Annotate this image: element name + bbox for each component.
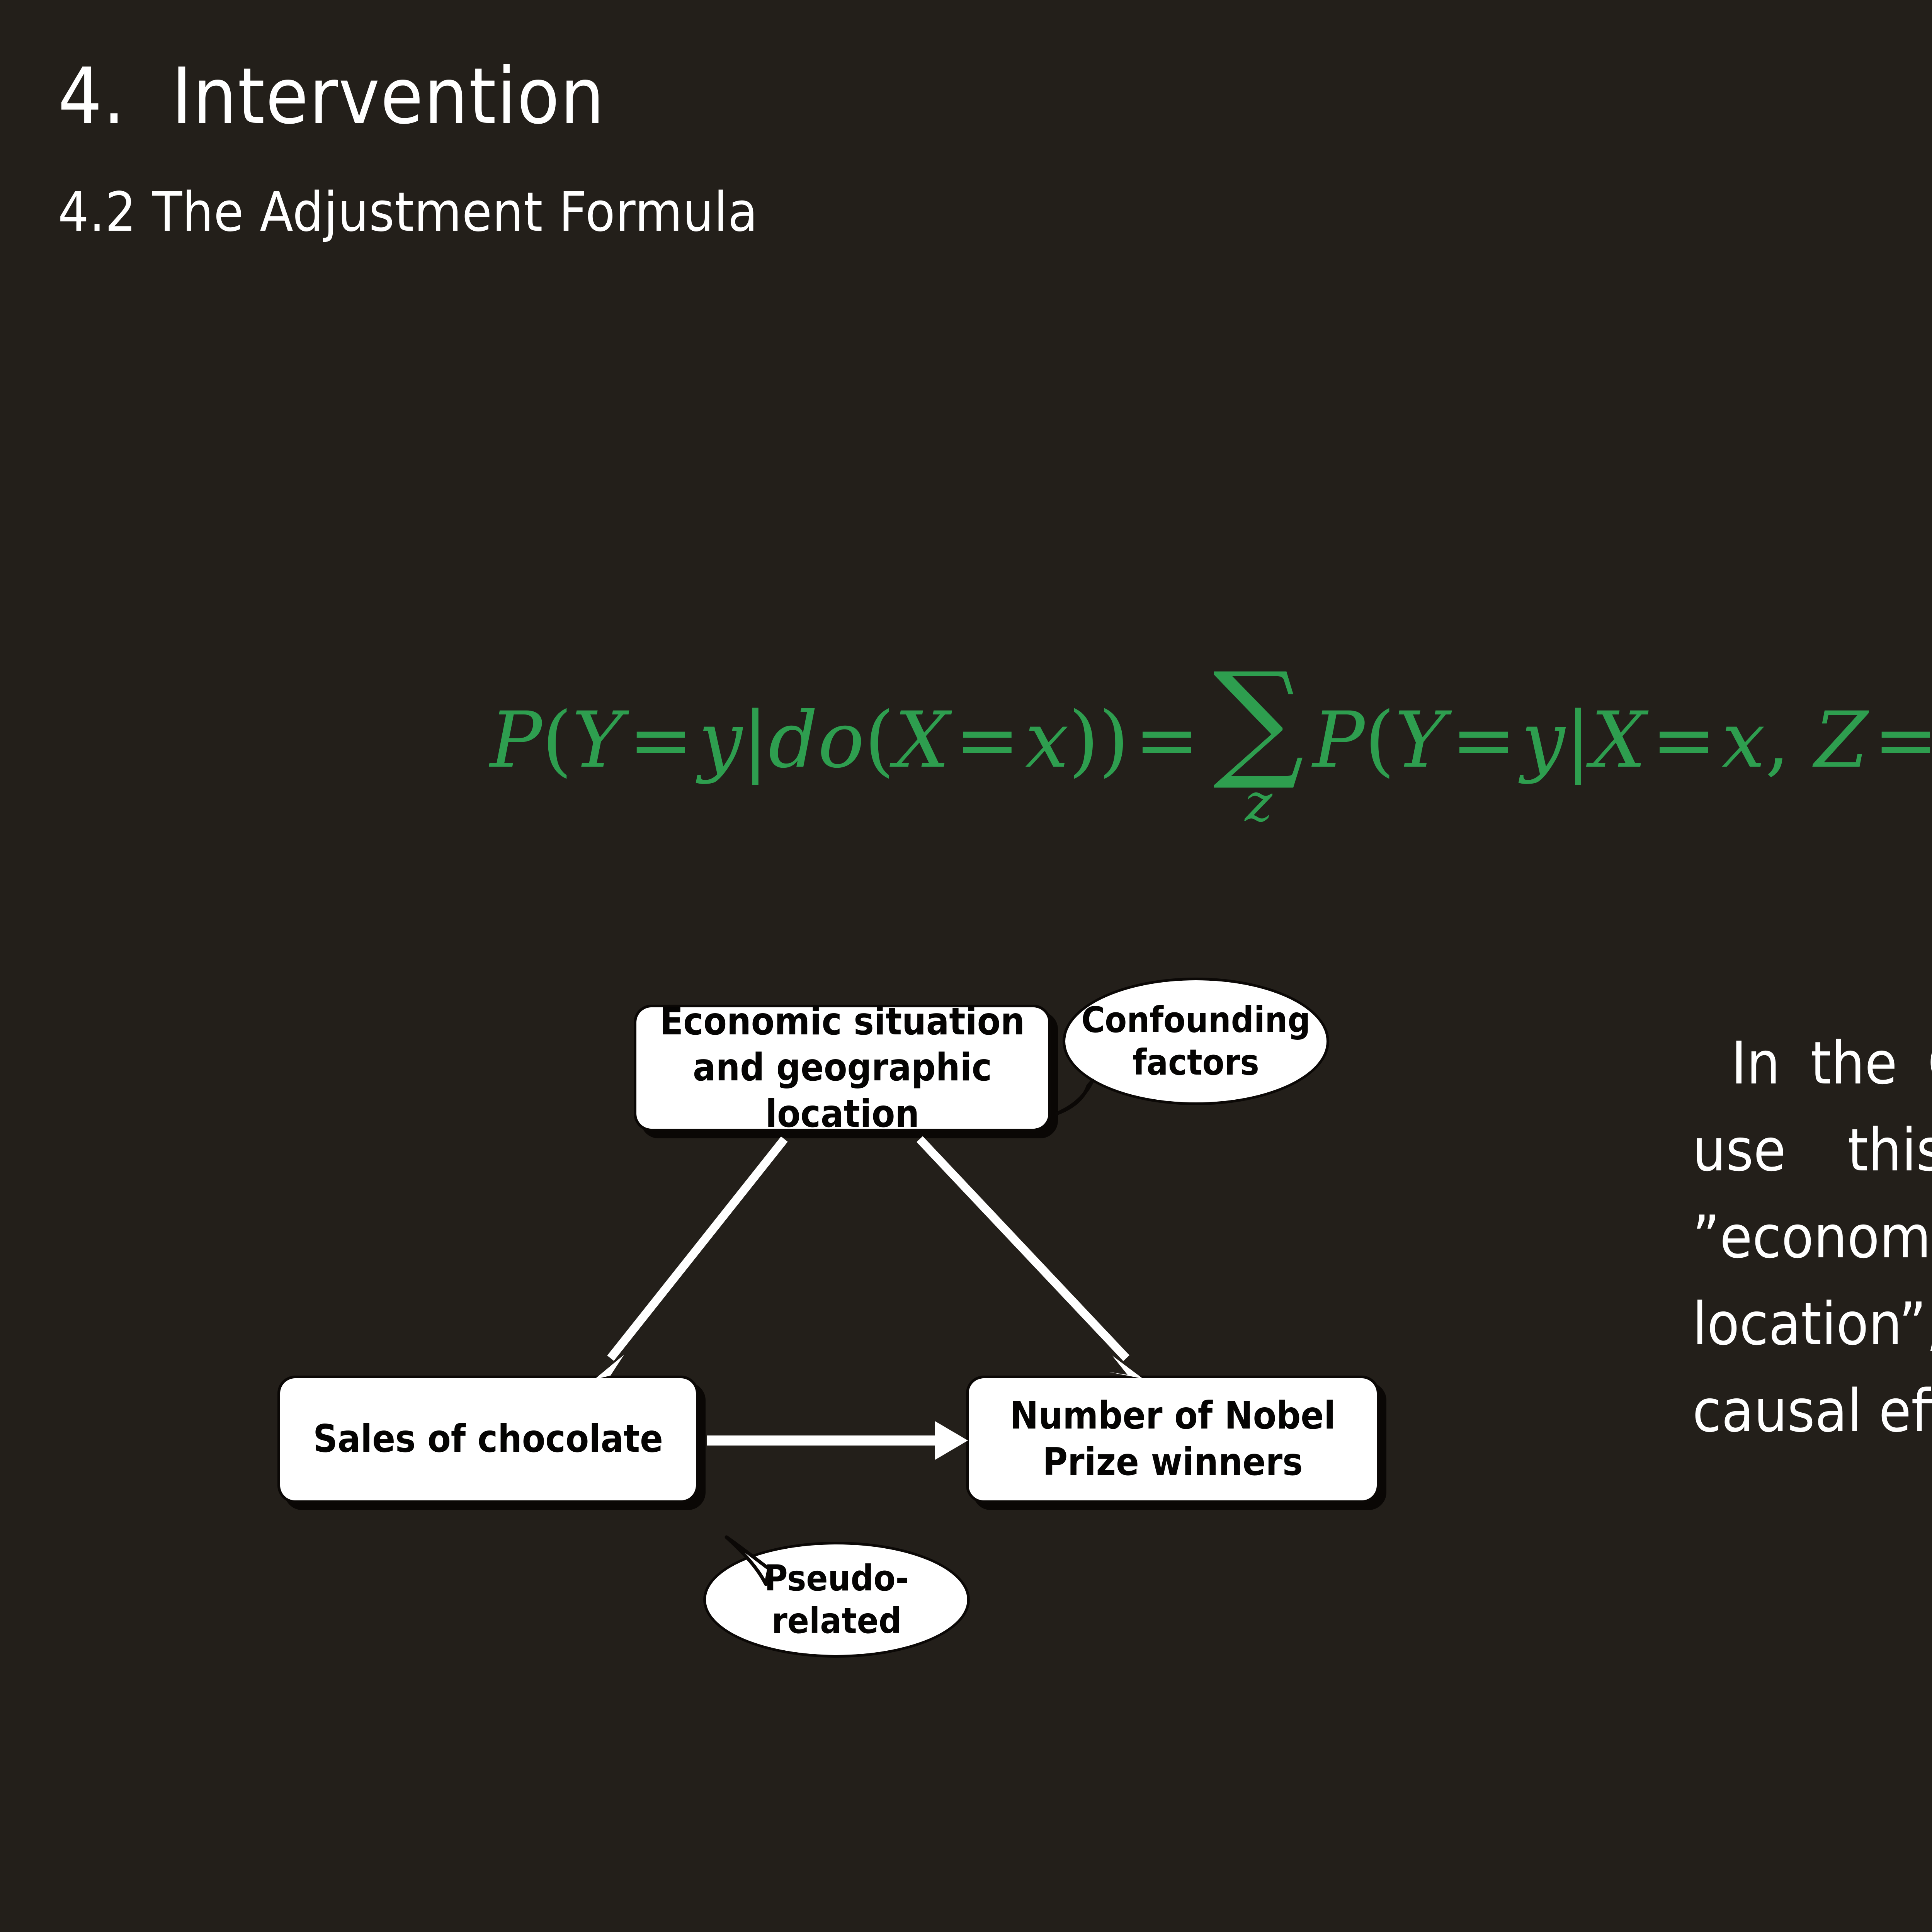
page-subtitle: 4.2 The Adjustment Formula bbox=[58, 185, 758, 240]
formula-rhs1-eq3: = bbox=[1868, 695, 1932, 785]
formula-rhs1-x: X bbox=[1591, 695, 1646, 785]
formula-do-close: ) bbox=[1069, 695, 1099, 785]
pseudo-bubble-tail bbox=[726, 1537, 769, 1584]
formula-rhs1-y: Y bbox=[1395, 695, 1446, 785]
formula-lhs-xlow: x bbox=[1025, 695, 1069, 785]
bubble-tails bbox=[270, 989, 1546, 1704]
formula-rhs1-z: Z bbox=[1815, 695, 1868, 785]
formula-lhs-x: X bbox=[895, 695, 949, 785]
formula-rhs1-bar: | bbox=[1565, 695, 1591, 785]
confounding-bubble-tail bbox=[1057, 1080, 1093, 1114]
formula-rhs1-comma: , bbox=[1765, 695, 1790, 785]
causal-diagram: Economic situation and geographic locati… bbox=[270, 989, 1546, 1704]
formula-lhs-eq1: = bbox=[623, 695, 699, 785]
formula-lhs-bar: | bbox=[742, 695, 768, 785]
formula-lhs-open: ( bbox=[542, 695, 572, 785]
explanation-paragraph: In the Chocolate Paradox, we can use thi… bbox=[1692, 1020, 1932, 1455]
formula-rhs1-eq1: = bbox=[1446, 695, 1522, 785]
formula-lhs-close: ) bbox=[1099, 695, 1129, 785]
formula-rhs1-ylow: y bbox=[1521, 695, 1565, 785]
formula-equals: = bbox=[1129, 695, 1205, 785]
formula-lhs-eq2: = bbox=[949, 695, 1025, 785]
formula-do-operator: do bbox=[769, 695, 864, 785]
formula-rhs1-eq2: = bbox=[1646, 695, 1722, 785]
formula-lhs-ylow: y bbox=[699, 695, 742, 785]
sigma-icon: ∑ bbox=[1213, 665, 1304, 774]
formula-do-open: ( bbox=[864, 695, 895, 785]
formula-rhs1-p: P bbox=[1313, 695, 1365, 785]
formula-rhs1-xlow: x bbox=[1722, 695, 1765, 785]
formula-rhs1-open: ( bbox=[1365, 695, 1395, 785]
summation-operator: ∑z bbox=[1213, 665, 1304, 829]
formula-lhs-p: P bbox=[490, 695, 542, 785]
formula-lhs-y: Y bbox=[572, 695, 623, 785]
page-title: 4. Intervention bbox=[58, 58, 605, 135]
adjustment-formula: P(Y=y|do(X=x))=∑zP(Y=y|X=x, Z=z)P(Z=z) bbox=[0, 665, 1932, 829]
slide-canvas: 4. Intervention 4.2 The Adjustment Formu… bbox=[0, 0, 1932, 1932]
